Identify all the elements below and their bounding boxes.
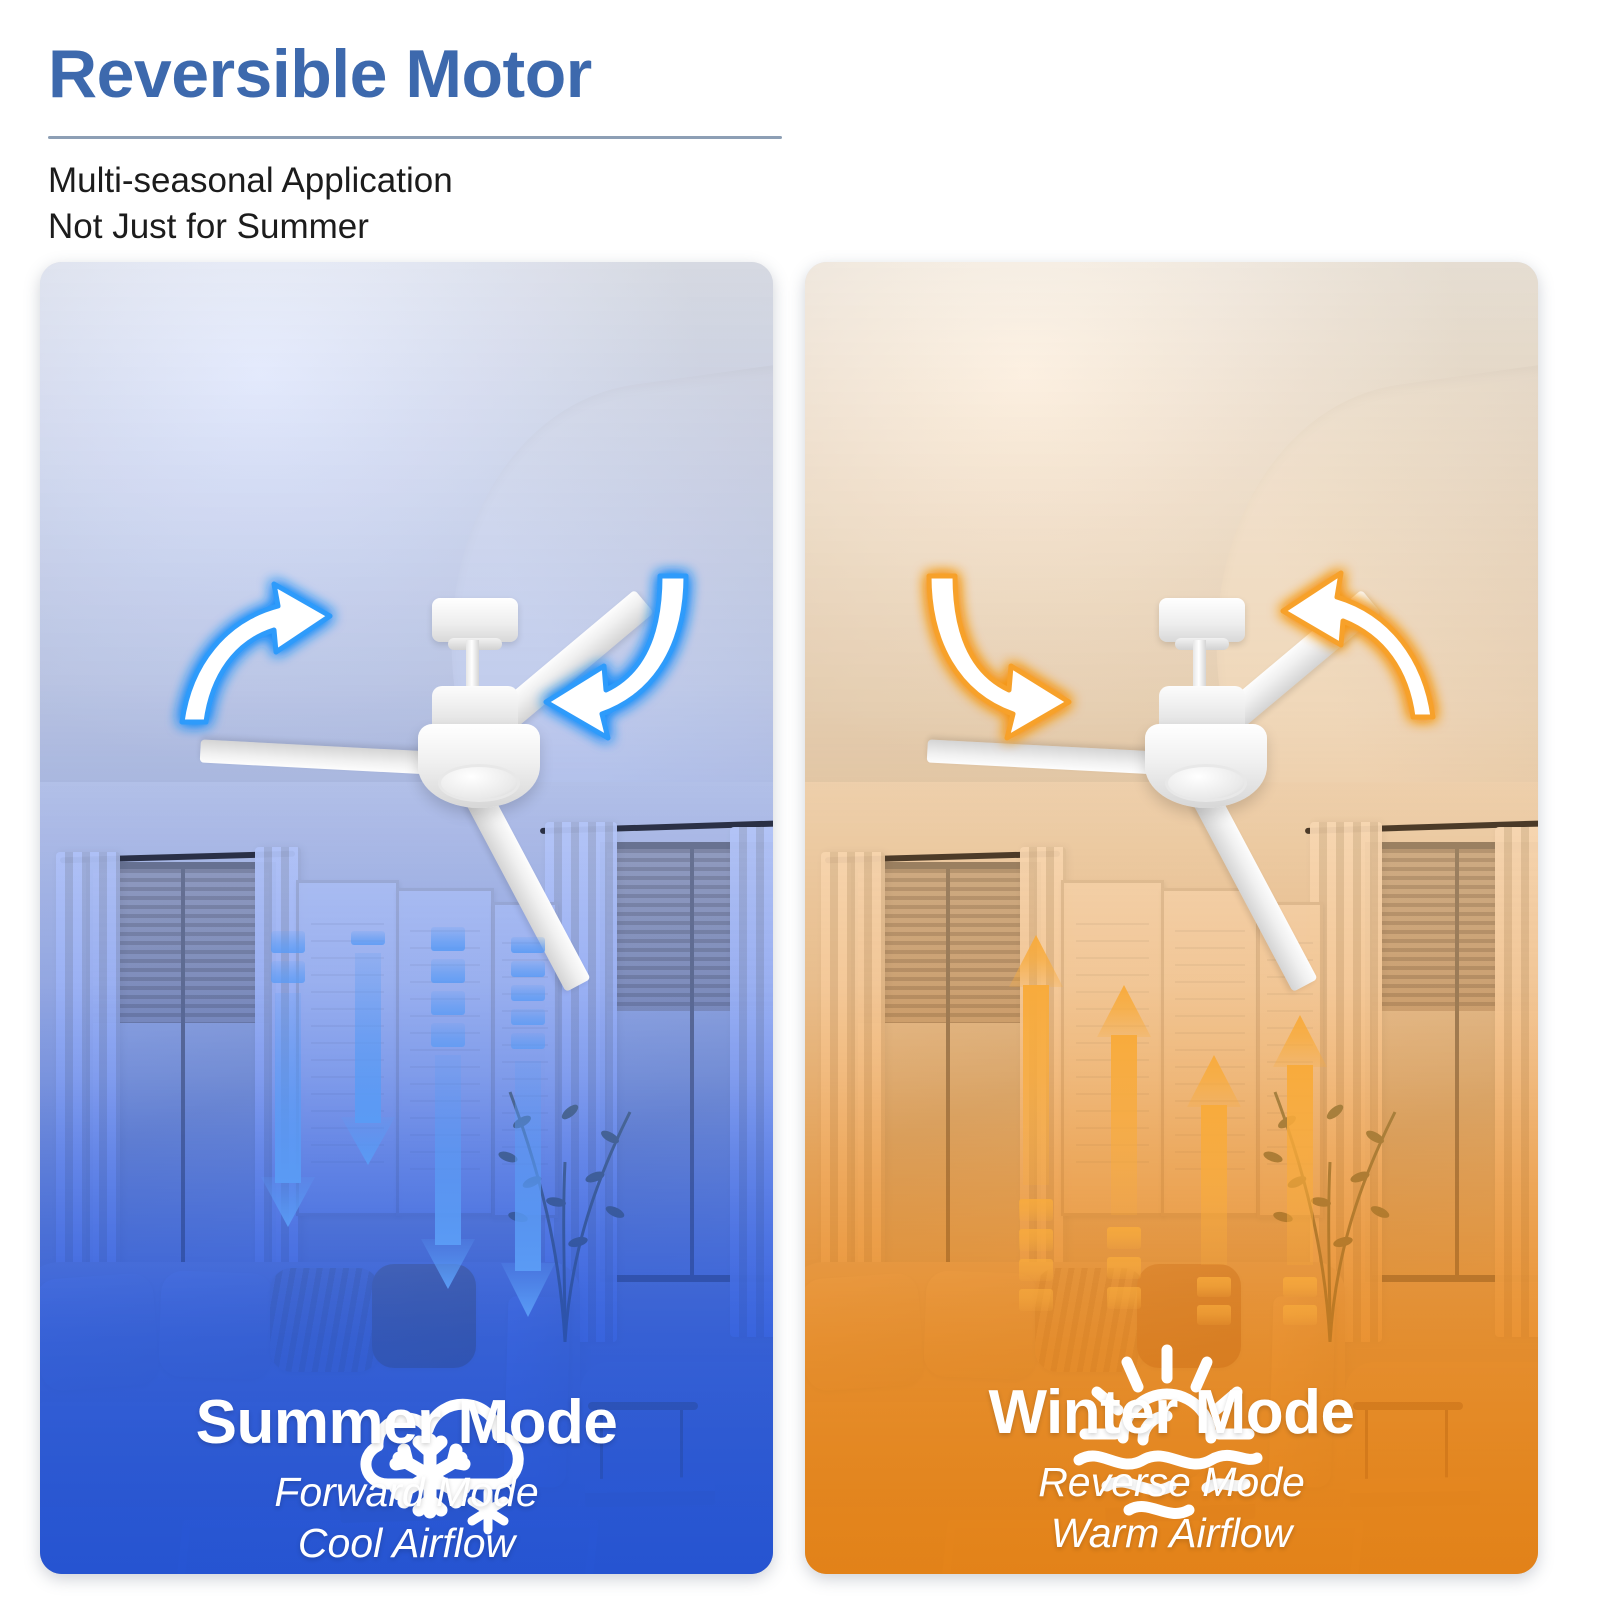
airflow-arrows-up bbox=[1005, 927, 1345, 1347]
summer-mode-caption: Summer Mode Forward Mode Cool Airflow bbox=[40, 1390, 773, 1570]
curtain bbox=[1495, 827, 1538, 1337]
window-mullion bbox=[946, 869, 950, 1275]
summer-mode-line-2: Cool Airflow bbox=[40, 1518, 773, 1569]
header: Reversible Motor Multi-seasonal Applicat… bbox=[0, 0, 1598, 250]
winter-mode-caption: Winter Mode Reverse Mode Warm Airflow bbox=[805, 1380, 1538, 1560]
airflow-arrows-down bbox=[255, 927, 575, 1347]
summer-mode-line-1: Forward Mode bbox=[40, 1467, 773, 1518]
winter-mode-line-1: Reverse Mode bbox=[805, 1457, 1538, 1508]
summer-mode-panel[interactable]: Summer Mode Forward Mode Cool Airflow bbox=[40, 262, 773, 1574]
window-mullion bbox=[1455, 849, 1459, 1275]
page-title: Reversible Motor bbox=[48, 40, 592, 108]
rotation-arrow-right-orange-icon bbox=[1225, 557, 1455, 737]
rotation-arrow-right-blue-icon bbox=[490, 562, 720, 742]
cushion bbox=[805, 1272, 925, 1392]
curtain bbox=[821, 852, 885, 1322]
winter-mode-title: Winter Mode bbox=[805, 1380, 1538, 1445]
subtitle-line-2: Not Just for Summer bbox=[48, 204, 453, 250]
summer-mode-title: Summer Mode bbox=[40, 1390, 773, 1455]
fan-downrod bbox=[1193, 640, 1206, 690]
cushion bbox=[40, 1272, 160, 1392]
curtain bbox=[56, 852, 120, 1322]
title-divider bbox=[48, 136, 782, 139]
rotation-arrow-left-blue-icon bbox=[170, 572, 400, 752]
window-mullion bbox=[181, 869, 185, 1275]
infographic-page: Reversible Motor Multi-seasonal Applicat… bbox=[0, 0, 1598, 1598]
fan-light-kit bbox=[438, 764, 520, 802]
window-mullion bbox=[690, 849, 694, 1275]
subtitle: Multi-seasonal Application Not Just for … bbox=[48, 158, 453, 250]
winter-mode-line-2: Warm Airflow bbox=[805, 1508, 1538, 1559]
rotation-arrow-left-orange-icon bbox=[895, 562, 1125, 742]
winter-mode-panel[interactable]: Winter Mode Reverse Mode Warm Airflow bbox=[805, 262, 1538, 1574]
subtitle-line-1: Multi-seasonal Application bbox=[48, 158, 453, 204]
fan-downrod bbox=[466, 640, 479, 690]
fan-light-kit bbox=[1165, 764, 1247, 802]
